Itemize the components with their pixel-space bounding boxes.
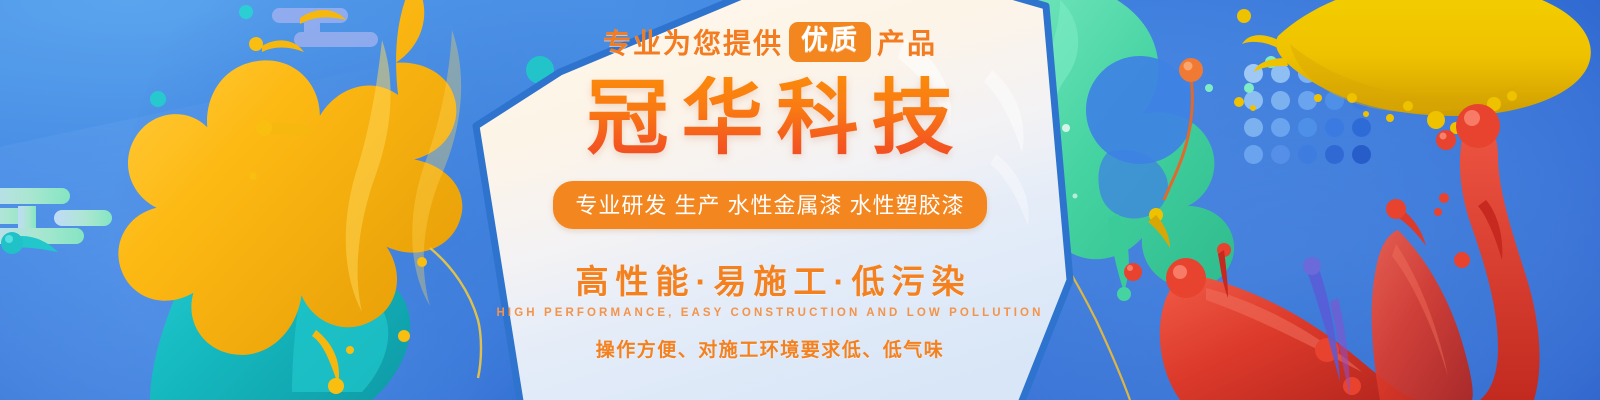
grid-dot [1298, 91, 1317, 110]
cloud-decoration-left-icon [0, 186, 164, 258]
promo-banner: 专业为您提供 优质 产品 冠华科技 专业研发 生产 水性金属漆 水性塑胶漆 高性… [0, 0, 1600, 400]
features-headline-english: HIGH PERFORMANCE, EASY CONSTRUCTION AND … [497, 307, 1044, 319]
grid-dot [1271, 145, 1290, 164]
dot-grid-decoration [1244, 64, 1376, 169]
cloud-decoration-icon [258, 4, 378, 50]
tagline-prefix: 专业为您提供 [603, 22, 783, 62]
benefits-note: 操作方便、对施工环境要求低、低气味 [596, 335, 945, 362]
grid-dot [1244, 145, 1263, 164]
grid-dot [1244, 64, 1263, 83]
grid-dot [1325, 91, 1344, 110]
grid-dot [1325, 118, 1344, 137]
grid-dot [1298, 145, 1317, 164]
grid-dot [1298, 118, 1317, 137]
tagline-suffix: 产品 [877, 22, 937, 62]
grid-dot [1352, 64, 1371, 83]
tagline: 专业为您提供 优质 产品 [603, 22, 937, 62]
grid-dot [1325, 64, 1344, 83]
banner-content: 专业为您提供 优质 产品 冠华科技 专业研发 生产 水性金属漆 水性塑胶漆 高性… [470, 0, 1070, 400]
grid-dot [1271, 91, 1290, 110]
grid-dot [1244, 91, 1263, 110]
service-pill: 专业研发 生产 水性金属漆 水性塑胶漆 [553, 181, 986, 229]
grid-dot [1325, 145, 1344, 164]
brand-title: 冠华科技 [573, 76, 966, 163]
quality-badge: 优质 [789, 22, 871, 62]
grid-dot [1244, 118, 1263, 137]
grid-dot [1298, 64, 1317, 83]
background-wave-e [0, 240, 500, 400]
grid-dot [1271, 118, 1290, 137]
grid-dot [1271, 64, 1290, 83]
grid-dot [1352, 91, 1371, 110]
background-wave-d [1040, 60, 1560, 400]
grid-dot [1352, 145, 1371, 164]
grid-dot [1352, 118, 1371, 137]
features-headline: 高性能·易施工·低污染 [569, 255, 972, 303]
